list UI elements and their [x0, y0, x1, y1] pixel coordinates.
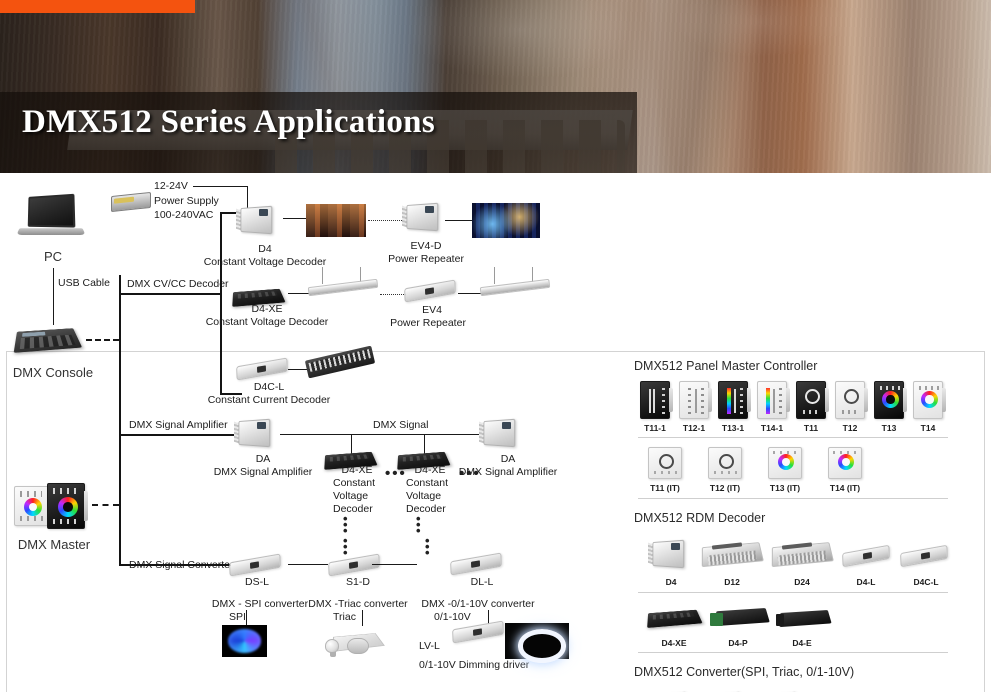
content-area: PC USB Cable DMX Console DMX Master — [0, 173, 991, 692]
product-label-t14-1: T14-1 — [761, 423, 783, 433]
label-s1d-model: S1-D — [346, 576, 370, 588]
product-label-t13-it: T13 (IT) — [770, 483, 800, 493]
label-d4-model: D4 — [258, 243, 271, 255]
product-tile-t11-it[interactable] — [648, 447, 682, 479]
label-dsl-model: DS-L — [245, 576, 269, 588]
label-pc: PC — [44, 251, 62, 263]
label-d4xe-model: D4-XE — [252, 303, 283, 315]
device-ev4 — [404, 279, 456, 302]
connector-to-dll — [372, 564, 417, 565]
product-label-d4-p: D4-P — [728, 638, 747, 648]
label-dsl-desc: DMX - SPI converter — [212, 598, 308, 610]
luminaire-downlight — [325, 625, 381, 659]
product-tile-t14[interactable] — [913, 381, 943, 419]
product-tile-t11[interactable] — [796, 381, 826, 419]
device-d4 — [234, 203, 276, 237]
connector-psu-top-horizontal — [193, 186, 248, 187]
product-label-t13: T13 — [882, 423, 897, 433]
product-label-d4-l: D4-L — [857, 577, 876, 587]
label-power-supply-voltage: 12-24V — [154, 180, 188, 192]
catalog-title-panel-master: DMX512 Panel Master Controller — [634, 359, 817, 373]
label-da2-model: DA — [501, 453, 516, 465]
label-power-supply-input: 100-240VAC — [154, 209, 213, 221]
label-0-1-10v: 0/1-10V — [434, 611, 471, 623]
device-power-supply — [111, 192, 151, 212]
product-label-d12: D12 — [724, 577, 740, 587]
connector-dmx-signal-bus — [280, 434, 479, 435]
label-chain1-desc-2: Voltage — [333, 490, 368, 502]
header-banner: DMX512 Series Applications — [0, 0, 991, 173]
label-ev4d-model: EV4-D — [411, 240, 442, 252]
chain-ellipsis-1: ••• — [385, 470, 407, 478]
s1d-vdots: ••• — [343, 538, 347, 556]
label-ev4-desc: Power Repeater — [390, 317, 466, 329]
connector-console-dashed — [86, 339, 119, 341]
product-tile-d24[interactable] — [772, 541, 834, 571]
label-dmx-console: DMX Console — [13, 367, 93, 379]
chain-vdots-2: ••• — [416, 516, 420, 534]
label-da1-model: DA — [256, 453, 271, 465]
label-d4cl-desc: Constant Current Decoder — [208, 394, 331, 406]
thumbnail-city-night — [472, 203, 540, 238]
device-ev4-d — [400, 200, 442, 234]
label-dmx-master: DMX Master — [18, 539, 90, 551]
product-tile-t14-it[interactable] — [828, 447, 862, 479]
device-da-2 — [477, 416, 519, 450]
label-d4xe-desc: Constant Voltage Decoder — [206, 316, 329, 328]
label-ev4d-desc: Power Repeater — [388, 253, 464, 265]
product-tile-d4[interactable] — [646, 537, 688, 571]
label-chain2-desc-3: Decoder — [406, 503, 446, 515]
connector-d4-to-load — [283, 218, 307, 219]
device-da-1 — [232, 416, 274, 450]
product-tile-t12-it[interactable] — [708, 447, 742, 479]
dmx-master-panel-white — [14, 486, 50, 526]
label-chain1-model: D4-XE — [342, 464, 373, 476]
dmx-master-panel-black — [47, 483, 85, 529]
thumbnail-warm-interior — [306, 204, 366, 237]
luminaire-pendant-1 — [308, 267, 378, 301]
product-label-t11: T11 — [804, 423, 818, 433]
connector-to-s1d — [288, 564, 328, 565]
product-label-t12-1: T12-1 — [683, 423, 705, 433]
label-chain2-desc-2: Voltage — [406, 490, 441, 502]
label-chain1-desc-3: Decoder — [333, 503, 373, 515]
device-pc-laptop — [18, 195, 88, 243]
connector-decoder-bus — [220, 212, 222, 395]
catalog-divider-3 — [638, 592, 948, 593]
connector-drop-chain-2 — [424, 434, 425, 455]
label-dmx-signal: DMX Signal — [373, 419, 428, 431]
product-label-d24: D24 — [794, 577, 810, 587]
catalog-title-converter: DMX512 Converter(SPI, Triac, 0/1-10V) — [634, 665, 854, 679]
trunk-vertical-line — [119, 275, 121, 565]
chain-vdots-1: ••• — [343, 516, 347, 534]
label-lvl-desc: 0/1-10V Dimming driver — [419, 659, 529, 671]
connector-master-dashed — [92, 504, 119, 506]
connector-pc-to-console — [53, 268, 54, 325]
connector-branch-cv-cc — [119, 293, 222, 295]
label-power-supply-name: Power Supply — [154, 195, 219, 207]
connector-drop-chain-1 — [351, 434, 352, 455]
product-label-t12-it: T12 (IT) — [710, 483, 740, 493]
product-tile-t12[interactable] — [835, 381, 865, 419]
product-tile-t13-it[interactable] — [768, 447, 802, 479]
product-label-t13-1: T13-1 — [722, 423, 744, 433]
label-chain1-desc-1: Constant — [333, 477, 375, 489]
product-tile-d12[interactable] — [702, 541, 764, 571]
luminaire-pendant-2 — [480, 267, 550, 301]
label-da1-desc: DMX Signal Amplifier — [214, 466, 313, 478]
thumbnail-rgb-strip — [222, 625, 267, 657]
connector-dsl-to-strip — [246, 610, 247, 626]
label-branch-cv-cc: DMX CV/CC Decoder — [127, 278, 229, 290]
product-label-d4: D4 — [666, 577, 677, 587]
product-tile-t11-1[interactable] — [640, 381, 670, 419]
label-chain2-desc-1: Constant — [406, 477, 448, 489]
product-label-d4c-l: D4C-L — [913, 577, 938, 587]
label-usb-cable: USB Cable — [58, 277, 110, 289]
thumbnail-cob-light — [505, 623, 569, 659]
dll-vdots: ••• — [425, 538, 429, 556]
product-tile-t14-1[interactable] — [757, 381, 787, 419]
connector-branch-converter — [119, 564, 233, 566]
catalog-divider-4 — [638, 652, 948, 653]
header-accent-bar — [0, 0, 195, 13]
product-label-t14: T14 — [921, 423, 936, 433]
product-tile-t13[interactable] — [874, 381, 904, 419]
application-page: DMX512 Series Applications PC USB Cable … — [0, 0, 991, 692]
product-tile-d4-p[interactable] — [710, 607, 768, 631]
product-label-d4-e: D4-E — [792, 638, 811, 648]
catalog-divider-2 — [638, 498, 948, 499]
device-dmx-master — [14, 483, 94, 531]
product-label-t11-it: T11 (IT) — [650, 483, 680, 493]
connector-ev4d-to-load — [445, 220, 473, 221]
label-da2-desc: DMX Signal Amplifier — [459, 466, 558, 478]
label-ev4-model: EV4 — [422, 304, 442, 316]
label-spi: SPI — [229, 611, 246, 623]
product-label-t14-it: T14 (IT) — [830, 483, 860, 493]
label-chain2-model: D4-XE — [415, 464, 446, 476]
page-title: DMX512 Series Applications — [22, 104, 435, 141]
device-dmx-console — [14, 328, 83, 353]
connector-d4xe-to-pendant — [288, 293, 310, 294]
label-dll-desc: DMX -0/1-10V converter — [421, 598, 534, 610]
product-label-t11-1: T11-1 — [644, 423, 666, 433]
label-d4cl-model: D4C-L — [254, 381, 284, 393]
connector-load-to-ev4d — [368, 220, 402, 221]
connector-d4cl-to-washer — [288, 369, 308, 370]
label-branch-amplifier: DMX Signal Amplifier — [129, 419, 228, 431]
label-triac: Triac — [333, 611, 356, 623]
catalog-divider-1 — [638, 437, 948, 438]
product-label-d4-xe: D4-XE — [661, 638, 686, 648]
product-tile-t13-1[interactable] — [718, 381, 748, 419]
product-tile-t12-1[interactable] — [679, 381, 709, 419]
label-dll-model: DL-L — [471, 576, 494, 588]
product-tile-d4-e[interactable] — [776, 609, 832, 631]
label-lvl-model: LV-L — [419, 640, 440, 652]
catalog-title-rdm-decoder: DMX512 RDM Decoder — [634, 511, 765, 525]
label-s1d-desc: DMX -Triac converter — [308, 598, 407, 610]
product-label-t12: T12 — [843, 423, 858, 433]
connector-s1d-to-downlight — [362, 610, 363, 626]
connector-branch-amplifier — [119, 434, 235, 436]
